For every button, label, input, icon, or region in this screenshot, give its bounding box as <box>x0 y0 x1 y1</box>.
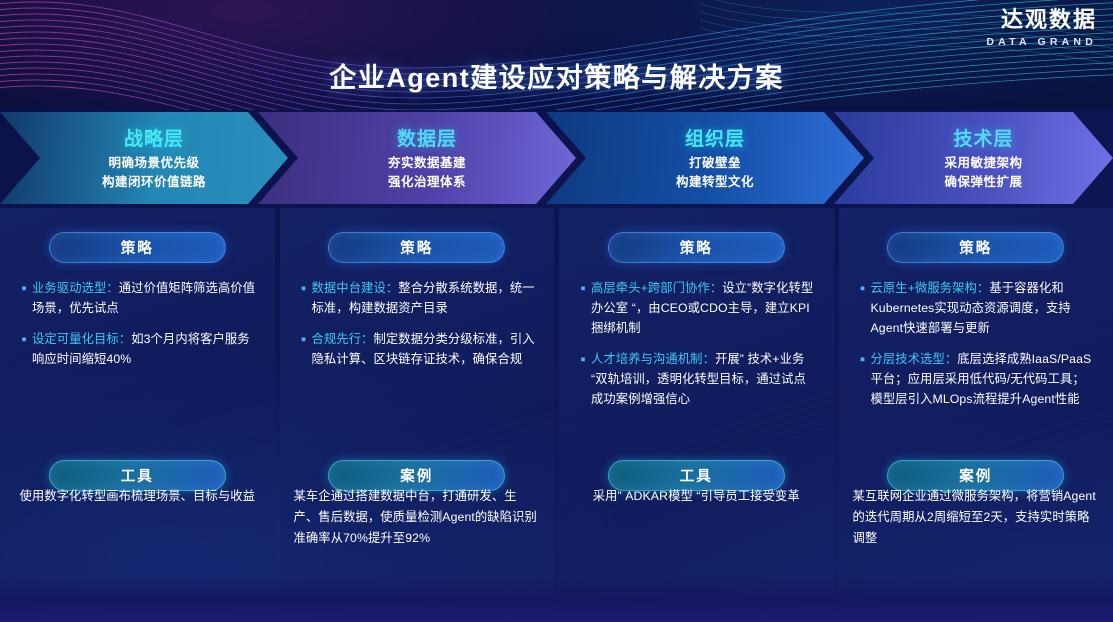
logo-chinese-text: 达观数据 <box>986 8 1097 32</box>
chevron-subtitle: 夯实数据基建 强化治理体系 <box>388 154 466 192</box>
chevron-subtitle-line2: 强化治理体系 <box>388 173 466 192</box>
brand-logo: 达观数据 DATA GRAND <box>986 8 1097 48</box>
bullet-keyword: 合规先行： <box>312 332 374 346</box>
decorative-diagonal-lines <box>0 208 274 610</box>
list-item: ▪ 设定可量化目标：如3个月内将客户服务响应时间缩短40% <box>18 330 259 370</box>
logo-english-text: DATA GRAND <box>986 36 1097 48</box>
bullet-body: 云原生+微服务架构：基于容器化和Kubernetes实现动态资源调度，支持Age… <box>871 279 1098 339</box>
chevron-title: 组织层 <box>685 124 745 151</box>
chevron-subtitle-line1: 采用敏捷架构 <box>944 154 1022 173</box>
column-organization: 策略 ▪ 高层牵头+跨部门协作：设立”数字化转型办公室 “，由CEO或CDO主导… <box>559 208 834 612</box>
chevron-title: 战略层 <box>124 124 184 151</box>
bullet-body: 合规先行：制定数据分类分级标准，引入隐私计算、区块链存证技术，确保合规 <box>312 330 539 370</box>
bullet-dot-icon: ▪ <box>857 349 869 410</box>
bullet-dot-icon: ▪ <box>298 278 310 319</box>
chevron-subtitle-line1: 夯实数据基建 <box>388 154 466 173</box>
column-data: 策略 ▪ 数据中台建设：整合分散系统数据，统一标准，构建数据资产目录 ▪ 合规先… <box>280 208 555 612</box>
decorative-diagonal-lines <box>280 208 554 610</box>
chevron-subtitle-line2: 确保弹性扩展 <box>944 173 1022 192</box>
chevron-organization-layer[interactable]: 组织层 打破壁垒 构建转型文化 <box>546 112 864 204</box>
column-technology: 策略 ▪ 云原生+微服务架构：基于容器化和Kubernetes实现动态资源调度，… <box>839 208 1113 612</box>
chevron-title: 数据层 <box>397 124 457 151</box>
bullet-body: 数据中台建设：整合分散系统数据，统一标准，构建数据资产目录 <box>312 279 539 319</box>
chevron-subtitle: 采用敏捷架构 确保弹性扩展 <box>944 154 1022 192</box>
list-item: ▪ 云原生+微服务架构：基于容器化和Kubernetes实现动态资源调度，支持A… <box>857 279 1098 339</box>
strategy-bullet-list: ▪ 数据中台建设：整合分散系统数据，统一标准，构建数据资产目录 ▪ 合规先行：制… <box>294 279 541 370</box>
strategy-pill[interactable]: 策略 <box>328 232 505 263</box>
bottom-pill-wrap: 案例 <box>839 436 1113 491</box>
bullet-dot-icon: ▪ <box>577 349 589 410</box>
strategy-bullet-list: ▪ 业务驱动选型：通过价值矩阵筛选高价值场景，优先试点 ▪ 设定可量化目标：如3… <box>14 279 261 370</box>
list-item: ▪ 数据中台建设：整合分散系统数据，统一标准，构建数据资产目录 <box>298 279 539 319</box>
chevron-data-layer[interactable]: 数据层 夯实数据基建 强化治理体系 <box>258 112 576 204</box>
bullet-body: 业务驱动选型：通过价值矩阵筛选高价值场景，优先试点 <box>32 279 259 319</box>
slide-canvas: 企业Agent建设应对策略与解决方案 达观数据 DATA GRAND 战略层 明… <box>0 0 1113 622</box>
strategy-bullet-list: ▪ 高层牵头+跨部门协作：设立”数字化转型办公室 “，由CEO或CDO主导，建立… <box>573 279 820 409</box>
bullet-keyword: 数据中台建设： <box>312 281 399 295</box>
bullet-dot-icon: ▪ <box>577 278 589 339</box>
strategy-pill[interactable]: 策略 <box>887 232 1064 263</box>
chevron-subtitle: 打破壁垒 构建转型文化 <box>676 154 754 192</box>
chevron-subtitle-line1: 明确场景优先级 <box>102 154 206 173</box>
chevron-subtitle-line2: 构建闭环价值链路 <box>102 173 206 192</box>
chevron-technology-layer[interactable]: 技术层 采用敏捷架构 确保弹性扩展 <box>834 112 1113 204</box>
bottom-note: 采用” ADKAR模型 “引导员工接受变革 <box>573 486 820 507</box>
chevron-title: 技术层 <box>953 124 1013 151</box>
bottom-note: 某互联网企业通过微服务架构，将营销Agent的迭代周期从2周缩短至2天，支持实时… <box>853 486 1100 549</box>
chevron-subtitle-line2: 构建转型文化 <box>676 173 754 192</box>
chevron-subtitle-line1: 打破壁垒 <box>676 154 754 173</box>
bullet-keyword: 设定可量化目标： <box>32 332 131 346</box>
bullet-keyword: 高层牵头+跨部门协作： <box>591 281 722 295</box>
list-item: ▪ 人才培养与沟通机制：开展” 技术+业务 “双轨培训，透明化转型目标，通过试点… <box>577 350 818 410</box>
bullet-keyword: 业务驱动选型： <box>32 281 119 295</box>
chevron-subtitle: 明确场景优先级 构建闭环价值链路 <box>102 154 206 192</box>
bullet-body: 分层技术选型：底层选择成熟IaaS/PaaS平台；应用层采用低代码/无代码工具；… <box>871 350 1098 410</box>
bullet-dot-icon: ▪ <box>857 278 869 339</box>
strategy-pill[interactable]: 策略 <box>608 232 785 263</box>
bottom-note: 某车企通过搭建数据中台，打通研发、生产、售后数据，使质量检测Agent的缺陷识别… <box>294 486 541 549</box>
layer-chevron-band: 战略层 明确场景优先级 构建闭环价值链路 数据层 夯实数据基建 强化治理体系 组… <box>0 112 1113 204</box>
content-columns: 策略 ▪ 业务驱动选型：通过价值矩阵筛选高价值场景，优先试点 ▪ 设定可量化目标… <box>0 208 1113 612</box>
list-item: ▪ 业务驱动选型：通过价值矩阵筛选高价值场景，优先试点 <box>18 279 259 319</box>
bullet-dot-icon: ▪ <box>298 329 310 370</box>
list-item: ▪ 分层技术选型：底层选择成熟IaaS/PaaS平台；应用层采用低代码/无代码工… <box>857 350 1098 410</box>
bullet-body: 人才培养与沟通机制：开展” 技术+业务 “双轨培训，透明化转型目标，通过试点成功… <box>591 350 818 410</box>
list-item: ▪ 合规先行：制定数据分类分级标准，引入隐私计算、区块链存证技术，确保合规 <box>298 330 539 370</box>
chevron-strategy-layer[interactable]: 战略层 明确场景优先级 构建闭环价值链路 <box>0 112 288 204</box>
list-item: ▪ 高层牵头+跨部门协作：设立”数字化转型办公室 “，由CEO或CDO主导，建立… <box>577 279 818 339</box>
bullet-dot-icon: ▪ <box>18 278 30 319</box>
page-title: 企业Agent建设应对策略与解决方案 <box>0 56 1113 95</box>
bottom-pill-wrap: 工具 <box>0 436 275 491</box>
bullet-keyword: 云原生+微服务架构： <box>871 281 990 295</box>
strategy-bullet-list: ▪ 云原生+微服务架构：基于容器化和Kubernetes实现动态资源调度，支持A… <box>853 279 1100 409</box>
bullet-body: 高层牵头+跨部门协作：设立”数字化转型办公室 “，由CEO或CDO主导，建立KP… <box>591 279 818 339</box>
bottom-pill-wrap: 工具 <box>559 436 834 491</box>
bullet-dot-icon: ▪ <box>18 329 30 370</box>
column-strategy: 策略 ▪ 业务驱动选型：通过价值矩阵筛选高价值场景，优先试点 ▪ 设定可量化目标… <box>0 208 275 612</box>
bullet-body: 设定可量化目标：如3个月内将客户服务响应时间缩短40% <box>32 330 259 370</box>
bullet-keyword: 人才培养与沟通机制： <box>591 352 715 366</box>
bullet-keyword: 分层技术选型： <box>871 352 958 366</box>
slide-header: 企业Agent建设应对策略与解决方案 达观数据 DATA GRAND <box>0 0 1113 110</box>
strategy-pill[interactable]: 策略 <box>49 232 226 263</box>
bottom-pill-wrap: 案例 <box>280 436 555 491</box>
bottom-note: 使用数字化转型画布梳理场景、目标与收益 <box>14 486 261 507</box>
